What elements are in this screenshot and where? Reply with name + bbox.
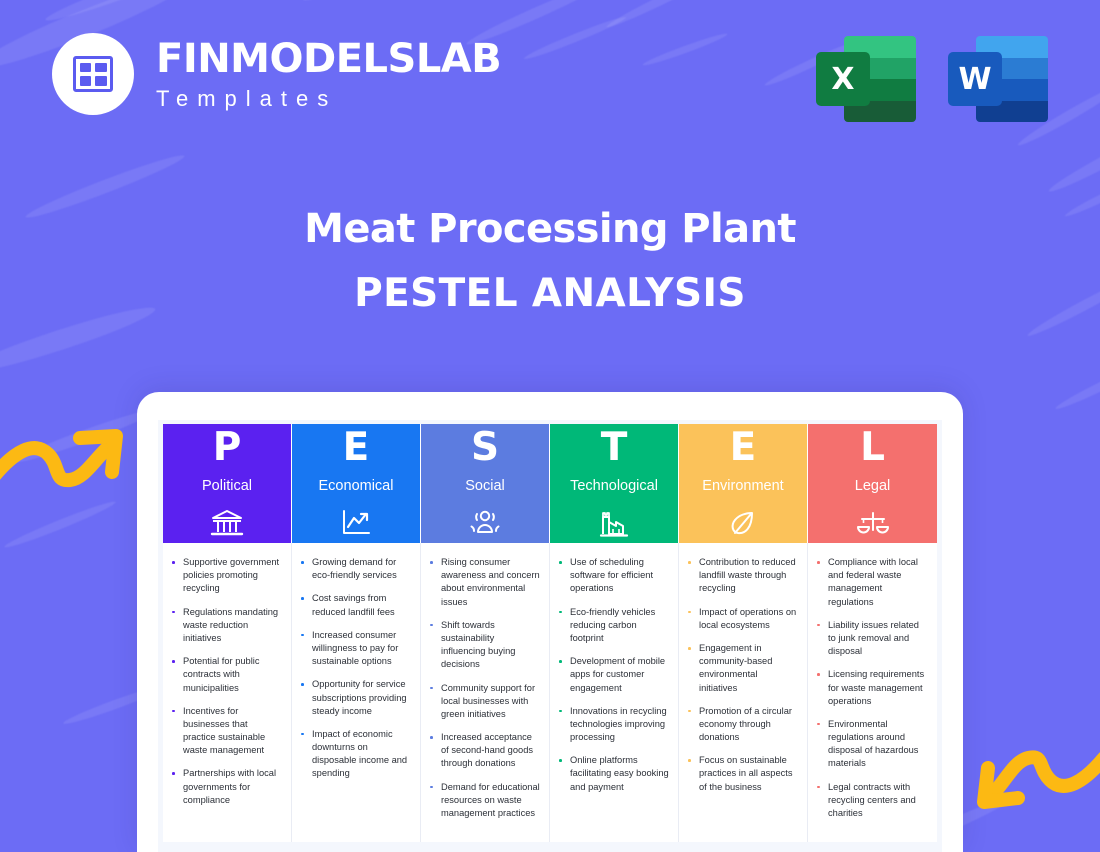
pestel-body-technological: Use of scheduling software for efficient… bbox=[550, 543, 679, 842]
pestel-word: Technological bbox=[570, 479, 658, 503]
list-item: Potential for public contracts with muni… bbox=[170, 655, 282, 695]
list-item: Impact of operations on local ecosystems bbox=[686, 606, 798, 632]
list-item: Cost savings from reduced landfill fees bbox=[299, 592, 411, 618]
bullet-list: Rising consumer awareness and concern ab… bbox=[428, 556, 540, 820]
pestel-icon-cell-economical bbox=[292, 502, 421, 543]
bullet-list: Use of scheduling software for efficient… bbox=[557, 556, 669, 794]
pestel-word: Environment bbox=[702, 479, 783, 503]
pestel-letter: T bbox=[601, 428, 628, 469]
pestel-header-environment[interactable]: E Environment bbox=[679, 424, 808, 502]
bullet-list: Contribution to reduced landfill waste t… bbox=[686, 556, 798, 794]
word-icon: W bbox=[948, 28, 1048, 122]
pestel-header-social[interactable]: S Social bbox=[421, 424, 550, 502]
list-item: Supportive government policies promoting… bbox=[170, 556, 282, 596]
pestel-word: Political bbox=[202, 479, 252, 503]
headline-block: Meat Processing Plant PESTEL ANALYSIS bbox=[0, 206, 1100, 316]
brand-subtitle: Templates bbox=[156, 88, 501, 110]
pestel-body-political: Supportive government policies promoting… bbox=[163, 543, 292, 842]
leaf-icon bbox=[728, 508, 758, 538]
pestel-letter: E bbox=[730, 428, 757, 469]
pestel-icon-cell-political bbox=[163, 502, 292, 543]
list-item: Compliance with local and federal waste … bbox=[815, 556, 928, 609]
pestel-word: Economical bbox=[319, 479, 394, 503]
page-subtitle: PESTEL ANALYSIS bbox=[0, 273, 1100, 316]
list-item: Legal contracts with recycling centers a… bbox=[815, 781, 928, 821]
line-chart-icon bbox=[340, 508, 372, 538]
pestel-body-legal: Compliance with local and federal waste … bbox=[808, 543, 937, 842]
factory-icon bbox=[598, 508, 630, 538]
pestel-header-legal[interactable]: L Legal bbox=[808, 424, 937, 502]
list-item: Partnerships with local governments for … bbox=[170, 767, 282, 807]
pestel-icon-cell-social bbox=[421, 502, 550, 543]
pestel-letter: S bbox=[471, 428, 499, 469]
list-item: Rising consumer awareness and concern ab… bbox=[428, 556, 540, 609]
list-item: Demand for educational resources on wast… bbox=[428, 781, 540, 821]
tablet-screen: P Political E Economical S Social T Tech… bbox=[158, 420, 942, 852]
list-item: Licensing requirements for waste managem… bbox=[815, 668, 928, 708]
pestel-header-economical[interactable]: E Economical bbox=[292, 424, 421, 502]
list-item: Community support for local businesses w… bbox=[428, 682, 540, 722]
list-item: Eco-friendly vehicles reducing carbon fo… bbox=[557, 606, 669, 646]
squiggle-arrow-up-right-icon bbox=[0, 398, 132, 493]
brand-logo: FINMODELSLAB Templates bbox=[52, 33, 501, 115]
list-item: Opportunity for service subscriptions pr… bbox=[299, 678, 411, 718]
squiggle-arrow-down-left-icon bbox=[966, 748, 1100, 843]
list-item: Online platforms facilitating easy booki… bbox=[557, 754, 669, 794]
list-item: Increased acceptance of second-hand good… bbox=[428, 731, 540, 771]
list-item: Promotion of a circular economy through … bbox=[686, 705, 798, 745]
brand-wordmark: FINMODELSLAB bbox=[156, 39, 501, 79]
people-group-icon bbox=[468, 508, 502, 538]
bullet-list: Growing demand for eco-friendly services… bbox=[299, 556, 411, 781]
list-item: Incentives for businesses that practice … bbox=[170, 705, 282, 758]
page-title: Meat Processing Plant bbox=[0, 206, 1100, 252]
list-item: Regulations mandating waste reduction in… bbox=[170, 606, 282, 646]
excel-icon-letter: X bbox=[816, 52, 870, 106]
pestel-letter: E bbox=[343, 428, 370, 469]
government-building-icon bbox=[210, 508, 244, 538]
list-item: Shift towards sustainability influencing… bbox=[428, 619, 540, 672]
excel-icon: X bbox=[816, 28, 916, 122]
office-file-format-icons: X W bbox=[816, 28, 1048, 122]
pestel-body-social: Rising consumer awareness and concern ab… bbox=[421, 543, 550, 842]
list-item: Use of scheduling software for efficient… bbox=[557, 556, 669, 596]
pestel-letter: L bbox=[860, 428, 885, 469]
grid-logo-icon bbox=[52, 33, 134, 115]
pestel-letter: P bbox=[213, 428, 242, 469]
pestel-icon-cell-legal bbox=[808, 502, 937, 543]
list-item: Increased consumer willingness to pay fo… bbox=[299, 629, 411, 669]
pestel-header-political[interactable]: P Political bbox=[163, 424, 292, 502]
list-item: Growing demand for eco-friendly services bbox=[299, 556, 411, 582]
pestel-header-technological[interactable]: T Technological bbox=[550, 424, 679, 502]
pestel-body-economical: Growing demand for eco-friendly services… bbox=[292, 543, 421, 842]
list-item: Engagement in community-based environmen… bbox=[686, 642, 798, 695]
pestel-icon-cell-technological bbox=[550, 502, 679, 543]
pestel-body-environment: Contribution to reduced landfill waste t… bbox=[679, 543, 808, 842]
pestel-word: Social bbox=[465, 479, 505, 503]
scales-of-justice-icon bbox=[856, 508, 890, 538]
list-item: Contribution to reduced landfill waste t… bbox=[686, 556, 798, 596]
list-item: Focus on sustainable practices in all as… bbox=[686, 754, 798, 794]
list-item: Development of mobile apps for customer … bbox=[557, 655, 669, 695]
pestel-table: P Political E Economical S Social T Tech… bbox=[163, 424, 937, 842]
tablet-device-frame: P Political E Economical S Social T Tech… bbox=[137, 392, 963, 852]
pestel-icon-cell-environment bbox=[679, 502, 808, 543]
list-item: Environmental regulations around disposa… bbox=[815, 718, 928, 771]
bullet-list: Supportive government policies promoting… bbox=[170, 556, 282, 807]
list-item: Impact of economic downturns on disposab… bbox=[299, 728, 411, 781]
pestel-word: Legal bbox=[855, 479, 890, 503]
list-item: Innovations in recycling technologies im… bbox=[557, 705, 669, 745]
bullet-list: Compliance with local and federal waste … bbox=[815, 556, 928, 820]
word-icon-letter: W bbox=[948, 52, 1002, 106]
list-item: Liability issues related to junk removal… bbox=[815, 619, 928, 659]
